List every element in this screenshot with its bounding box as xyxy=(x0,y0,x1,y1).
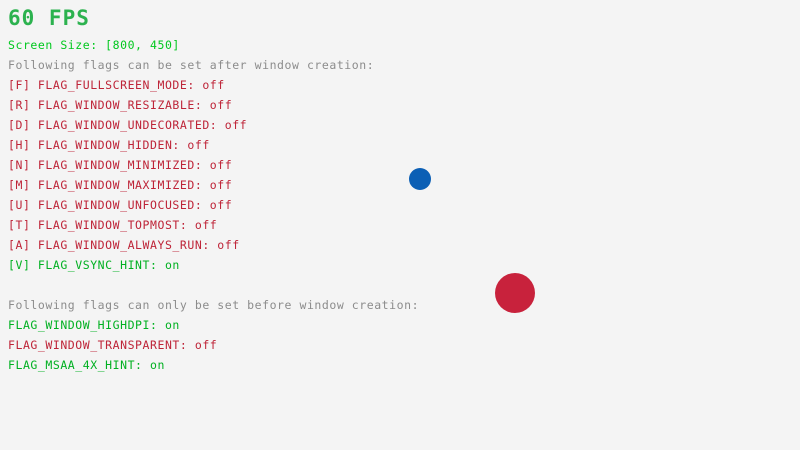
flag-row-flag-window-undecorated[interactable]: [D] FLAG_WINDOW_UNDECORATED: off xyxy=(8,119,247,131)
flag-value: on xyxy=(143,358,165,372)
flag-row-flag-fullscreen-mode[interactable]: [F] FLAG_FULLSCREEN_MODE: off xyxy=(8,79,225,91)
flag-row-flag-window-minimized[interactable]: [N] FLAG_WINDOW_MINIMIZED: off xyxy=(8,159,232,171)
flag-name: FLAG_WINDOW_TOPMOST: xyxy=(30,218,187,232)
runtime-flags-heading: Following flags can be set after window … xyxy=(8,59,374,71)
flag-value: off xyxy=(202,158,232,172)
flag-name: FLAG_WINDOW_TRANSPARENT: xyxy=(8,338,187,352)
flag-row-flag-window-unfocused[interactable]: [U] FLAG_WINDOW_UNFOCUSED: off xyxy=(8,199,232,211)
flag-value: off xyxy=(217,118,247,132)
flag-value: off xyxy=(202,98,232,112)
flag-name: FLAG_WINDOW_HIDDEN: xyxy=(30,138,179,152)
flag-key: [V] xyxy=(8,258,30,272)
flag-name: FLAG_MSAA_4X_HINT: xyxy=(8,358,143,372)
flag-name: FLAG_WINDOW_MAXIMIZED: xyxy=(30,178,202,192)
flag-name: FLAG_WINDOW_HIGHDPI: xyxy=(8,318,157,332)
ball-red xyxy=(495,273,535,313)
flag-key: [T] xyxy=(8,218,30,232)
flag-value: off xyxy=(210,238,240,252)
flag-row-flag-window-hidden[interactable]: [H] FLAG_WINDOW_HIDDEN: off xyxy=(8,139,210,151)
flag-key: [H] xyxy=(8,138,30,152)
flag-row-flag-window-resizable[interactable]: [R] FLAG_WINDOW_RESIZABLE: off xyxy=(8,99,232,111)
flag-name: FLAG_WINDOW_MINIMIZED: xyxy=(30,158,202,172)
flag-name: FLAG_WINDOW_UNFOCUSED: xyxy=(30,198,202,212)
flag-value: on xyxy=(157,318,179,332)
flag-row-flag-window-transparent: FLAG_WINDOW_TRANSPARENT: off xyxy=(8,339,217,351)
flag-value: off xyxy=(187,218,217,232)
creation-flags-heading: Following flags can only be set before w… xyxy=(8,299,419,311)
flag-value: off xyxy=(202,198,232,212)
flag-key: [F] xyxy=(8,78,30,92)
flag-name: FLAG_WINDOW_ALWAYS_RUN: xyxy=(30,238,209,252)
flag-row-flag-window-maximized[interactable]: [M] FLAG_WINDOW_MAXIMIZED: off xyxy=(8,179,232,191)
flag-value: off xyxy=(187,338,217,352)
flag-key: [R] xyxy=(8,98,30,112)
flag-key: [D] xyxy=(8,118,30,132)
flag-value: off xyxy=(180,138,210,152)
flag-row-flag-vsync-hint[interactable]: [V] FLAG_VSYNC_HINT: on xyxy=(8,259,180,271)
screen-size-label: Screen Size: [800, 450] xyxy=(8,39,180,51)
flag-row-flag-window-highdpi: FLAG_WINDOW_HIGHDPI: on xyxy=(8,319,180,331)
flag-row-flag-window-always-run[interactable]: [A] FLAG_WINDOW_ALWAYS_RUN: off xyxy=(8,239,240,251)
flag-name: FLAG_FULLSCREEN_MODE: xyxy=(30,78,194,92)
flag-name: FLAG_WINDOW_RESIZABLE: xyxy=(30,98,202,112)
flag-key: [U] xyxy=(8,198,30,212)
flag-row-flag-msaa-4x-hint: FLAG_MSAA_4X_HINT: on xyxy=(8,359,165,371)
flag-name: FLAG_VSYNC_HINT: xyxy=(30,258,157,272)
flag-key: [N] xyxy=(8,158,30,172)
flag-value: off xyxy=(195,78,225,92)
fps-counter: 60 FPS xyxy=(8,6,90,30)
flag-name: FLAG_WINDOW_UNDECORATED: xyxy=(30,118,217,132)
flag-value: off xyxy=(202,178,232,192)
flag-key: [M] xyxy=(8,178,30,192)
ball-blue xyxy=(409,168,431,190)
flag-key: [A] xyxy=(8,238,30,252)
flag-value: on xyxy=(157,258,179,272)
flag-row-flag-window-topmost[interactable]: [T] FLAG_WINDOW_TOPMOST: off xyxy=(8,219,217,231)
app-window[interactable]: 60 FPS Screen Size: [800, 450] Following… xyxy=(0,0,800,450)
